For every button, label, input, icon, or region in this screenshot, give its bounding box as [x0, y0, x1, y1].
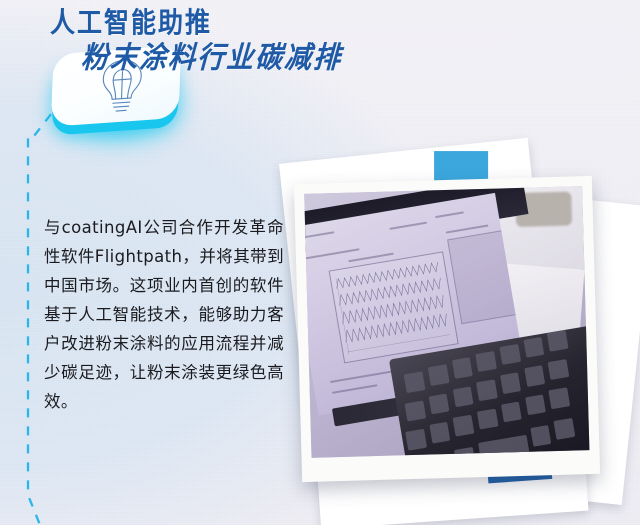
- poster-root: 人工智能助推 粉末涂料行业碳减排 与coatingAI公司合作开发革命性软件Fl…: [0, 0, 640, 525]
- screen-chart-zigzag: [329, 252, 459, 363]
- title-line-1: 人工智能助推: [50, 6, 640, 40]
- photo-frame: [294, 176, 600, 482]
- poster-title: 人工智能助推 粉末涂料行业碳减排: [0, 6, 640, 73]
- title-line-2: 粉末涂料行业碳减排: [80, 41, 640, 76]
- body-paragraph: 与coatingAI公司合作开发革命性软件Flightpath，并将其带到中国市…: [44, 213, 284, 416]
- laptop-photo: [304, 186, 589, 458]
- photo-stack: [286, 142, 640, 525]
